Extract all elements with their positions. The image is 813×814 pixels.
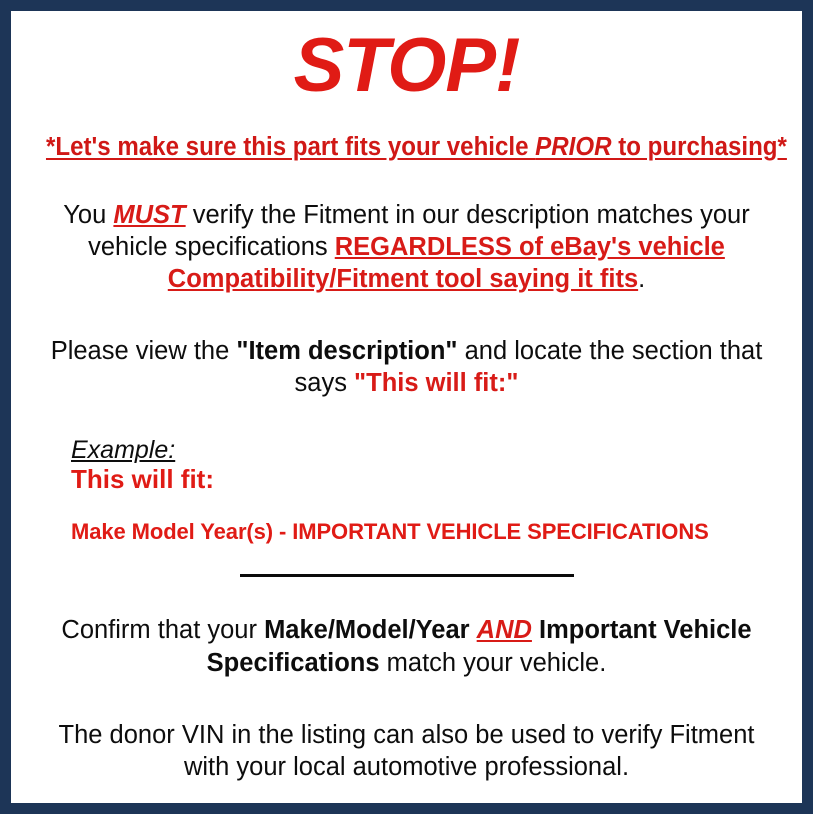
emphasis-item-description: "Item description" [236, 337, 457, 365]
confirm-text-2: match your vehicle. [380, 649, 607, 677]
confirm-space-1 [470, 616, 477, 644]
example-fit-heading: This will fit: [71, 465, 788, 494]
notice-content: STOP! *Let's make sure this part fits yo… [11, 11, 802, 803]
emphasis-and: AND [477, 616, 532, 644]
emphasis-must: MUST [113, 201, 185, 229]
paragraph-confirm-match: Confirm that your Make/Model/Year AND Im… [25, 614, 788, 678]
subtitle-emphasis-prior: PRIOR [535, 133, 611, 161]
paragraph-must-verify: You MUST verify the Fitment in our descr… [25, 199, 788, 295]
example-spec-line: Make Model Year(s) - IMPORTANT VEHICLE S… [71, 520, 788, 544]
subtitle-before: *Let's make sure this part fits your veh… [46, 133, 535, 161]
confirm-space-2 [532, 616, 539, 644]
paragraph-item-description: Please view the "Item description" and l… [25, 335, 788, 399]
paragraph-donor-vin: The donor VIN in the listing can also be… [25, 719, 788, 783]
section-divider [25, 574, 788, 578]
must-text-1: You [63, 201, 113, 229]
confirm-text-1: Confirm that your [61, 616, 264, 644]
example-label: Example: [71, 437, 175, 464]
emphasis-this-will-fit: "This will fit:" [354, 369, 518, 397]
must-text-3: . [638, 265, 645, 293]
subtitle-banner: *Let's make sure this part fits your veh… [46, 133, 767, 161]
stop-headline: STOP! [25, 27, 788, 105]
subtitle-after: to purchasing* [612, 133, 787, 161]
fitment-notice-card: STOP! *Let's make sure this part fits yo… [0, 0, 813, 814]
example-block: Example: This will fit: Make Model Year(… [25, 437, 788, 544]
divider-rule [240, 574, 574, 577]
view-text-1: Please view the [51, 337, 237, 365]
emphasis-make-model-year: Make/Model/Year [264, 616, 470, 644]
